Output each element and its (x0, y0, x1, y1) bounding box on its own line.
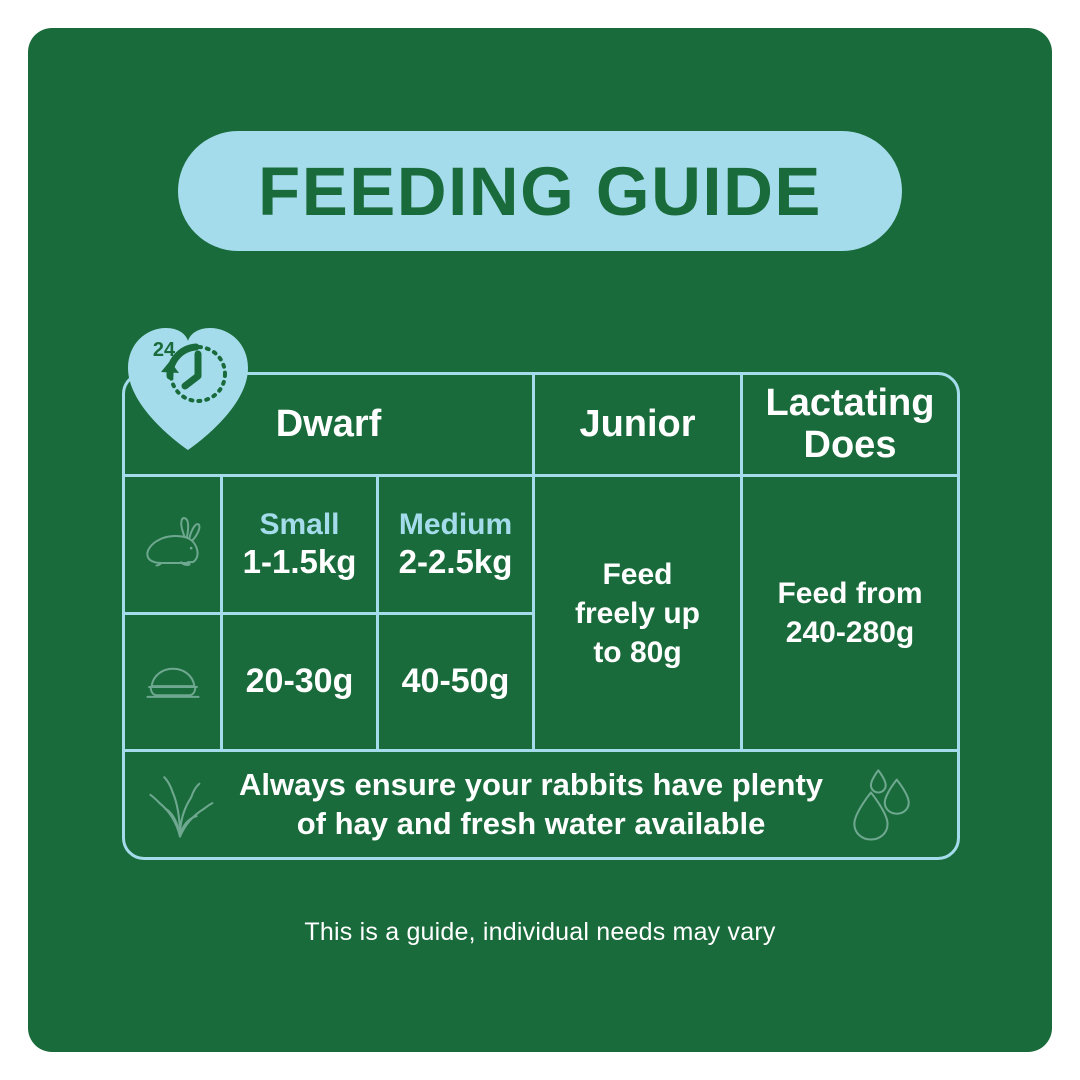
header-label-dwarf: Dwarf (276, 404, 382, 446)
header-label-lactating-line1: Lactating (766, 382, 935, 424)
water-droplets-icon (827, 763, 937, 846)
junior-feeding-text: Feed freely up to 80g (575, 555, 700, 672)
table-row-amounts: 20-30g 40-50g (125, 612, 532, 750)
dwarf-small-label: Small (259, 508, 339, 543)
cell-dwarf-medium: Medium 2-2.5kg (376, 477, 532, 612)
lactating-feeding-text: Feed from 240-280g (777, 574, 922, 652)
junior-line3: to 80g (593, 636, 681, 669)
dwarf-medium-amount: 40-50g (402, 662, 510, 701)
note-line2: of hay and fresh water available (297, 806, 766, 841)
header-label-junior: Junior (579, 404, 695, 446)
table-body-block: Small 1-1.5kg Medium 2-2.5kg (125, 474, 957, 749)
note-text: Always ensure your rabbits have plenty o… (235, 766, 827, 844)
cell-dwarf-medium-amount: 40-50g (376, 615, 532, 750)
table-note-row: Always ensure your rabbits have plenty o… (125, 749, 957, 857)
note-line1: Always ensure your rabbits have plenty (239, 767, 823, 802)
page-title-pill: FEEDING GUIDE (178, 131, 902, 251)
cell-lactating-feeding: Feed from 240-280g (743, 477, 957, 749)
cell-junior-feeding: Feed freely up to 80g (535, 477, 743, 749)
header-cell-lactating-does: Lactating Does (743, 375, 957, 474)
junior-line2: freely up (575, 597, 700, 630)
lactating-line1: Feed from (777, 577, 922, 610)
lactating-line2: 240-280g (786, 616, 914, 649)
dwarf-small-amount: 20-30g (246, 662, 354, 701)
junior-line1: Feed (602, 558, 672, 591)
grass-hay-icon (125, 768, 235, 842)
cell-dwarf-small-amount: 20-30g (223, 615, 376, 750)
dwarf-column-group: Small 1-1.5kg Medium 2-2.5kg (125, 477, 535, 749)
dwarf-medium-weight: 2-2.5kg (399, 543, 513, 581)
header-label-lactating-line2: Does (804, 424, 897, 466)
rabbit-icon (125, 477, 223, 612)
cell-dwarf-small: Small 1-1.5kg (223, 477, 376, 612)
infographic-card: FEEDING GUIDE 24 Dwarf (28, 28, 1052, 1052)
footer-note: This is a guide, individual needs may va… (28, 918, 1052, 947)
header-label-lactating-does: Lactating Does (766, 383, 935, 467)
food-bowl-icon (125, 615, 223, 750)
heart-clock-24-icon: 24 (118, 314, 258, 454)
header-cell-junior: Junior (535, 375, 743, 474)
table-row-sizes: Small 1-1.5kg Medium 2-2.5kg (125, 477, 532, 612)
page-title: FEEDING GUIDE (258, 157, 822, 226)
svg-text:24: 24 (153, 339, 176, 361)
feeding-table-wrap: 24 Dwarf Junior Lactating Does (122, 372, 960, 860)
dwarf-small-weight: 1-1.5kg (243, 543, 357, 581)
dwarf-medium-label: Medium (399, 508, 512, 543)
